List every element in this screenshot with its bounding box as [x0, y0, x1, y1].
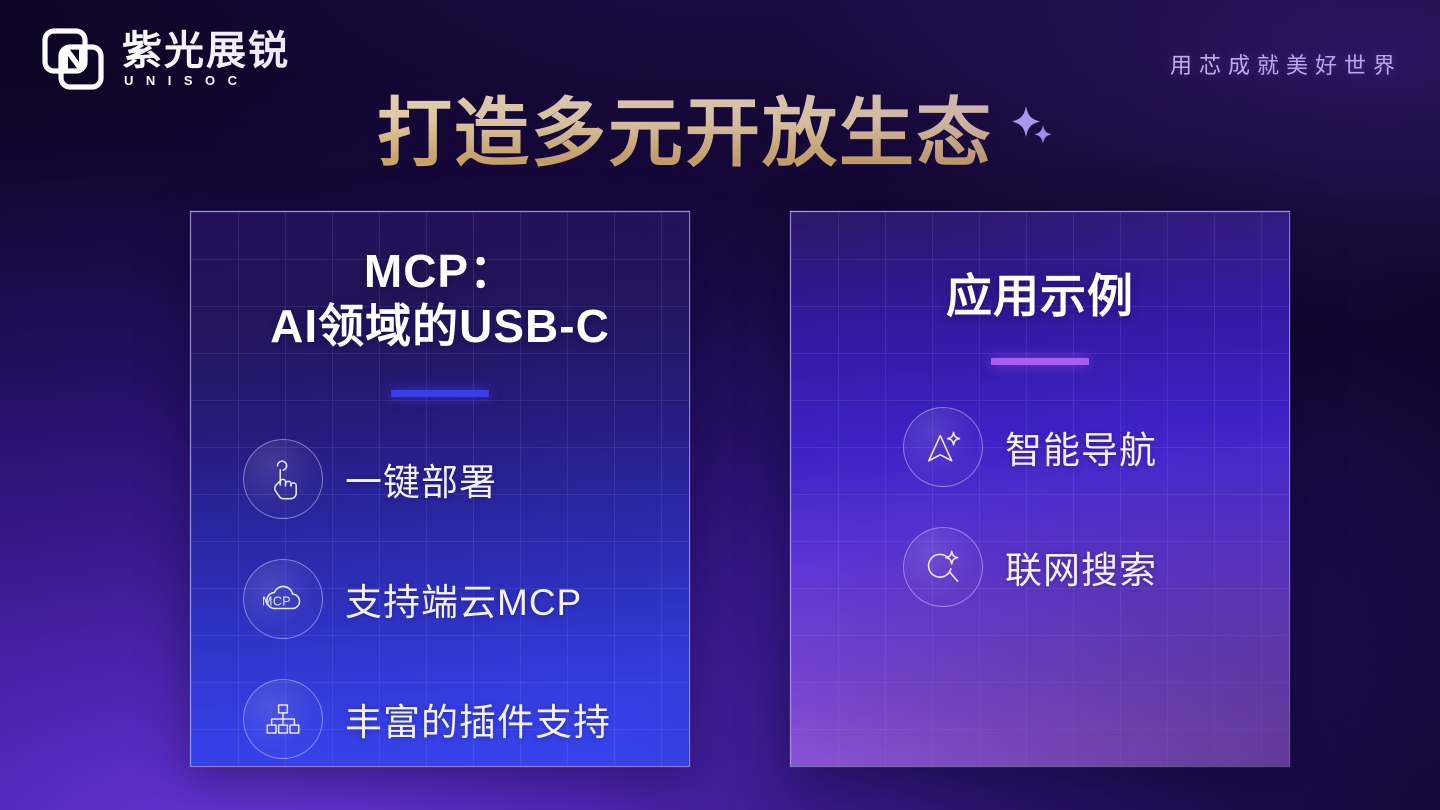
list-item-label: 支持端云MCP — [345, 572, 582, 626]
tap-hand-icon — [243, 439, 323, 519]
examples-card-heading: 应用示例 — [791, 212, 1289, 324]
page-title: 打造多元开放生态 — [377, 94, 993, 174]
navigation-sparkle-icon — [903, 407, 983, 487]
mcp-card-heading: MCP： AI领域的USB-C — [191, 212, 689, 354]
slide-background: 紫光展锐 UNISOC 用芯成就美好世界 打造多元开放生态 MCP： AI领域的… — [0, 0, 1440, 810]
mcp-card-heading-line1: MCP： — [191, 244, 689, 299]
list-item[interactable]: MCP 支持端云MCP — [243, 559, 689, 639]
list-item[interactable]: 一键部署 — [243, 439, 689, 519]
examples-feature-list: 智能导航 联网搜索 — [791, 407, 1289, 607]
examples-card-heading-line1: 应用示例 — [791, 269, 1289, 324]
list-item-label: 智能导航 — [1005, 420, 1157, 474]
list-item[interactable]: 丰富的插件支持 — [243, 679, 689, 759]
list-item-label: 联网搜索 — [1005, 540, 1157, 594]
brand-name-en: UNISOC — [122, 74, 290, 87]
unisoc-logo-icon — [42, 28, 104, 90]
brand-logo: 紫光展锐 UNISOC — [42, 28, 290, 90]
brand-tagline: 用芯成就美好世界 — [1170, 48, 1402, 80]
brand-name-cn: 紫光展锐 — [122, 31, 290, 71]
mcp-card-accent-rule — [391, 390, 489, 397]
list-item[interactable]: 智能导航 — [903, 407, 1289, 487]
mcp-card: MCP： AI领域的USB-C 一键部署 — [190, 211, 690, 767]
list-item-label: 丰富的插件支持 — [345, 692, 611, 746]
mcp-feature-list: 一键部署 MCP 支持端云MCP — [191, 439, 689, 759]
sparkles-icon — [1007, 100, 1063, 156]
title-row: 打造多元开放生态 — [0, 94, 1440, 174]
cloud-mcp-icon: MCP — [243, 559, 323, 639]
mcp-card-heading-line2: AI领域的USB-C — [191, 299, 689, 354]
search-sparkle-icon — [903, 527, 983, 607]
list-item[interactable]: 联网搜索 — [903, 527, 1289, 607]
examples-card-accent-rule — [991, 358, 1089, 365]
sitemap-icon — [243, 679, 323, 759]
svg-text:MCP: MCP — [262, 595, 291, 609]
examples-card: 应用示例 智能导航 — [790, 211, 1290, 767]
list-item-label: 一键部署 — [345, 452, 497, 506]
